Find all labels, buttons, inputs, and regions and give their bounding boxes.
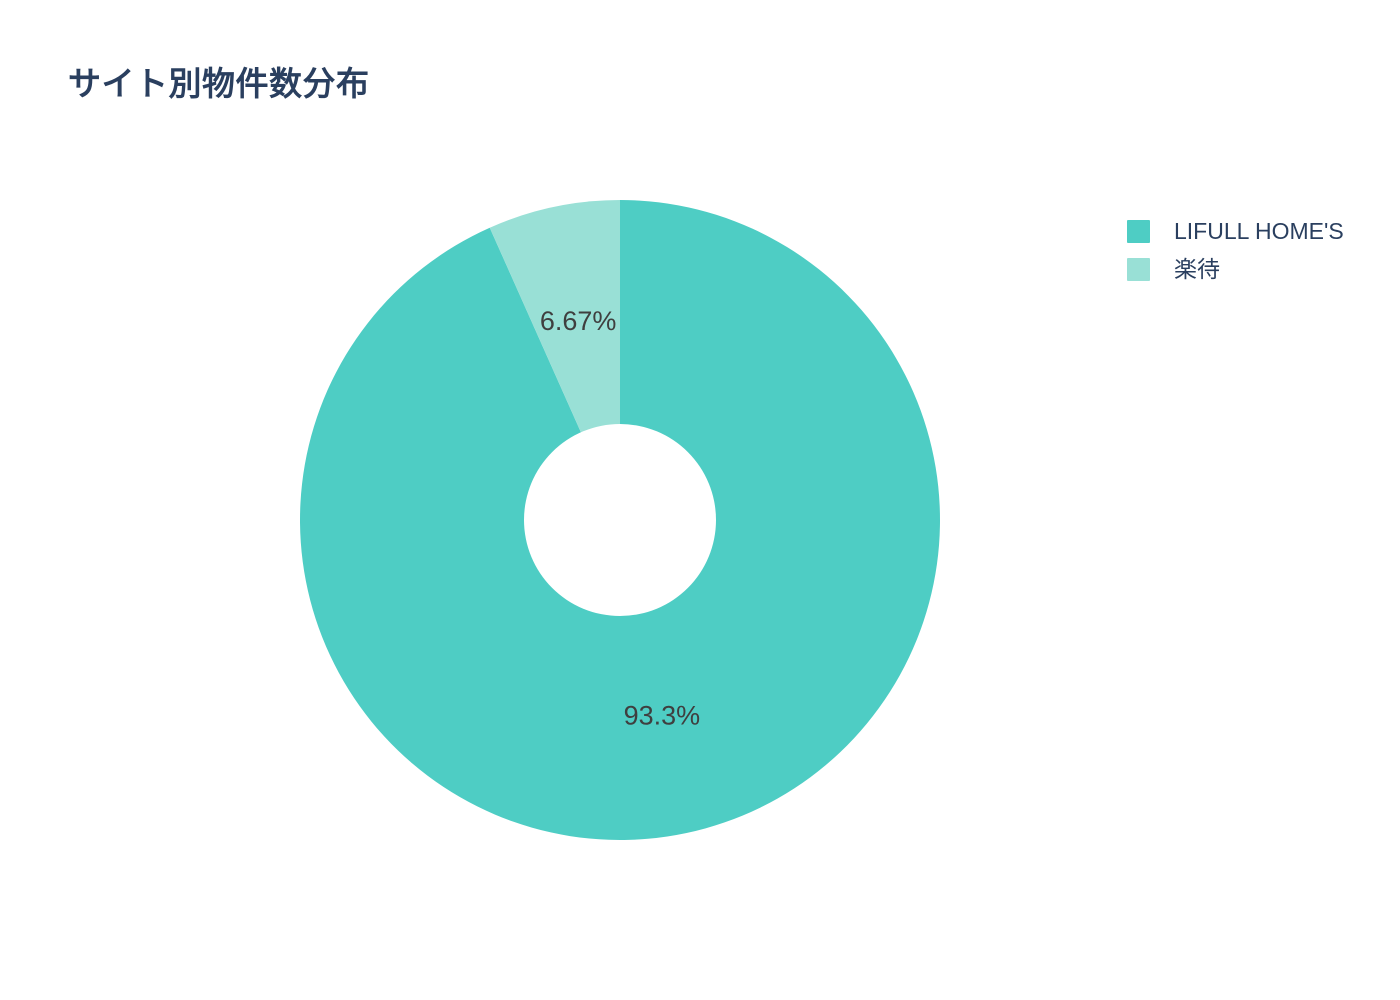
- legend-item-label: LIFULL HOME'S: [1174, 220, 1344, 243]
- legend: LIFULL HOME'S 楽待: [1127, 212, 1392, 288]
- slice-label-rakumachi: 6.67%: [540, 306, 617, 336]
- legend-swatch-icon: [1127, 258, 1150, 281]
- donut-hole: [524, 424, 716, 616]
- donut-chart-figure: サイト別物件数分布 93.3% 6.67% LIFULL HOME'S 楽待: [0, 0, 1400, 1000]
- legend-item-lifull-homes[interactable]: LIFULL HOME'S: [1127, 212, 1392, 250]
- donut-svg: 93.3% 6.67%: [300, 200, 940, 840]
- legend-item-label: 楽待: [1174, 258, 1220, 281]
- plot-area: 93.3% 6.67%: [300, 200, 940, 840]
- slice-label-lifull-homes: 93.3%: [624, 700, 701, 730]
- legend-item-rakumachi[interactable]: 楽待: [1127, 250, 1392, 288]
- page-title: サイト別物件数分布: [68, 64, 370, 104]
- legend-swatch-icon: [1127, 220, 1150, 243]
